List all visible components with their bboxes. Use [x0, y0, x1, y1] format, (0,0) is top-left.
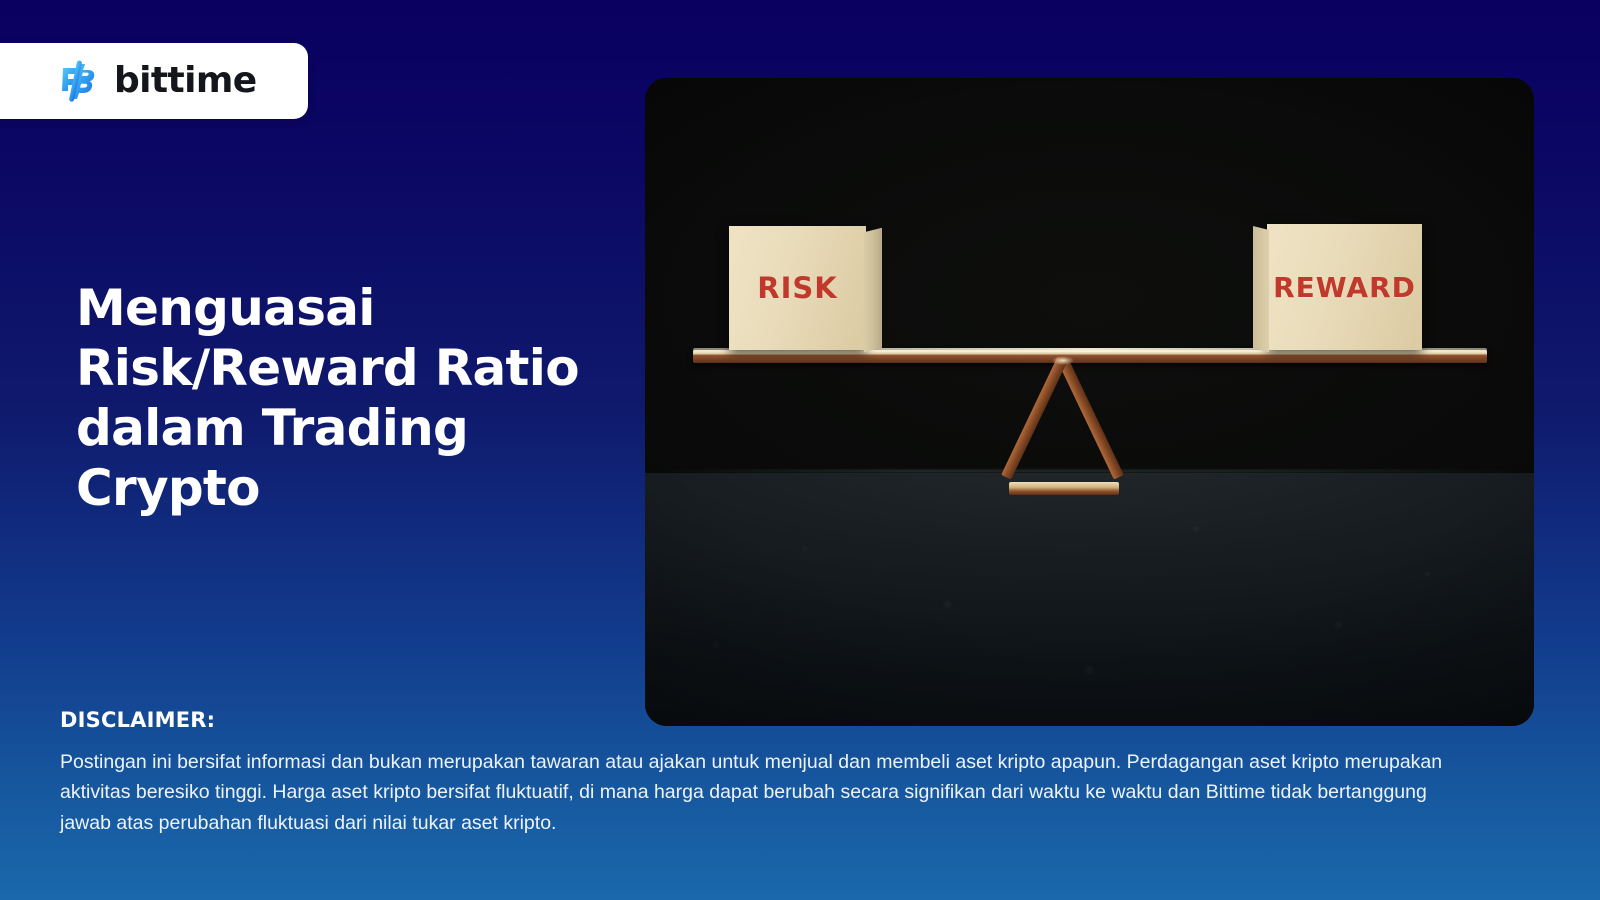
fulcrum-leg-right	[1001, 357, 1067, 480]
brand-name: bittime	[114, 63, 257, 99]
hero-image: RISK REWARD	[645, 78, 1534, 726]
disclaimer-body: Postingan ini bersifat informasi dan buk…	[60, 747, 1480, 838]
brand-logo-pill[interactable]: bittime	[0, 43, 308, 119]
reward-block: REWARD	[1267, 224, 1422, 350]
seesaw-fulcrum	[997, 359, 1129, 495]
disclaimer: DISCLAIMER: Postingan ini bersifat infor…	[60, 708, 1480, 838]
fulcrum-apex-highlight	[1052, 356, 1074, 365]
reward-block-label: REWARD	[1267, 224, 1422, 350]
photo-floor	[645, 473, 1534, 726]
bittime-b-logo-icon	[55, 58, 101, 104]
risk-block: RISK	[729, 226, 866, 350]
risk-block-label: RISK	[729, 226, 866, 350]
page-title: Menguasai Risk/Reward Ratio dalam Tradin…	[76, 278, 596, 518]
risk-block-side	[864, 228, 882, 352]
fulcrum-base	[1009, 482, 1119, 495]
disclaimer-title: DISCLAIMER:	[60, 708, 1480, 732]
fulcrum-leg-left	[1058, 357, 1124, 480]
